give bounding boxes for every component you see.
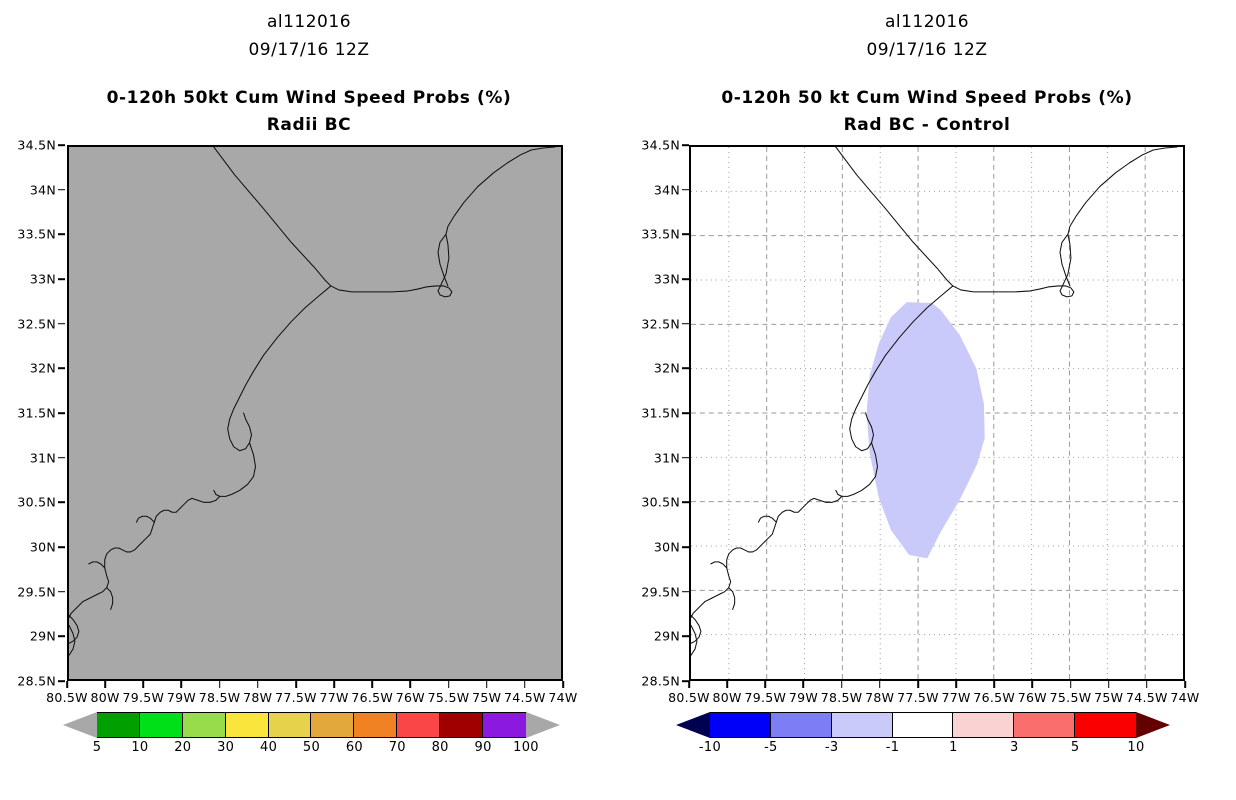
x-axis-tick [66,681,68,688]
colorbar-tick-label: 20 [174,740,191,755]
y-axis-tick [682,144,689,146]
y-axis-tick [58,144,65,146]
x-axis-tick-label: 76.5W [973,690,1015,705]
colorbar-over-arrow-icon [1136,712,1170,738]
y-axis-tick [682,234,689,236]
y-axis-tick [682,412,689,414]
x-axis-tick [1184,681,1186,688]
colorbar-under-arrow-icon [63,712,97,738]
y-axis-tick-label: 31N [30,450,56,465]
y-axis-tick [682,457,689,459]
probability-colorbar: 5102030405060708090100 [63,712,560,758]
colorbar-segments [97,712,526,738]
x-axis-tick-label: 77W [319,690,348,705]
x-axis-tick-label: 80W [713,690,742,705]
y-axis-tick [682,591,689,593]
colorbar-tick-label: -5 [764,740,778,755]
x-axis-tick-label: 80.5W [46,690,88,705]
y-axis-tick [58,636,65,638]
x-axis-tick-label: 78W [243,690,272,705]
x-axis-tick-label: 79W [167,690,196,705]
colorbar-segment [183,713,226,737]
y-axis-tick-label: 33.5N [641,227,680,242]
x-axis-tick-label: 74.5W [1126,690,1168,705]
colorbar-tick-label: -1 [886,740,900,755]
x-axis-tick-label: 78.5W [821,690,863,705]
y-axis-tick-label: 29N [30,629,56,644]
y-axis-tick-label: 30.5N [641,495,680,510]
colorbar-segment [354,713,397,737]
x-axis-tick [257,681,259,688]
y-axis-tick [58,323,65,325]
x-axis-tick [765,681,767,688]
x-axis-tick [1070,681,1072,688]
colorbar-segments [710,712,1136,738]
x-axis-tick [219,681,221,688]
colorbar-tick-label: 50 [303,740,320,755]
storm-id-label: al112016 [0,12,618,32]
colorbar-segment [483,713,526,737]
x-axis-tick-label: 74.5W [504,690,546,705]
x-axis-tick [181,681,183,688]
forecast-date-label: 09/17/16 12Z [0,40,618,60]
panel-radii-bc: al112016 09/17/16 12Z 0-120h 50kt Cum Wi… [0,0,618,800]
x-axis-tick-label: 79.5W [744,690,786,705]
difference-colorbar: -10-5-3-113510 [676,712,1170,758]
panel-title: 0-120h 50kt Cum Wind Speed Probs (%) [0,88,618,108]
map-plot-area-left [67,145,563,681]
x-axis-tick [295,681,297,688]
y-axis-tick-label: 34N [654,182,680,197]
colorbar-tick-label: 30 [217,740,234,755]
x-axis-tick [486,681,488,688]
x-axis-tick [993,681,995,688]
x-axis-tick-label: 78W [865,690,894,705]
y-axis-right: 34.5N34N33.5N33N32.5N32N31.5N31N30.5N30N… [624,145,689,681]
colorbar-under-arrow-icon [676,712,710,738]
x-axis-tick-label: 77W [941,690,970,705]
y-axis-left: 34.5N34N33.5N33N32.5N32N31.5N31N30.5N30N… [0,145,65,681]
x-axis-right: 80.5W80W79.5W79W78.5W78W77.5W77W76.5W76W… [689,681,1185,711]
panel-subtitle: Rad BC - Control [618,115,1236,135]
x-axis-tick [143,681,145,688]
colorbar-segment [710,713,771,737]
map-plot-area-right [689,145,1185,681]
x-axis-tick-label: 74W [548,690,577,705]
y-axis-tick-label: 32.5N [641,316,680,331]
colorbar-segment [1014,713,1075,737]
y-axis-tick [58,234,65,236]
colorbar-segment [1075,713,1136,737]
y-axis-tick [58,546,65,548]
y-axis-tick-label: 33.5N [17,227,56,242]
colorbar-tick-label: 5 [93,740,102,755]
y-axis-tick-label: 29.5N [17,584,56,599]
x-axis-tick [688,681,690,688]
colorbar-segment [226,713,269,737]
x-axis-tick-label: 76W [396,690,425,705]
y-axis-tick [682,546,689,548]
x-axis-tick [1032,681,1034,688]
y-axis-tick [58,680,65,682]
x-axis-tick [410,681,412,688]
colorbar-tick-label: 100 [513,740,539,755]
colorbar-tick-label: 5 [1071,740,1080,755]
y-axis-tick-label: 31.5N [17,406,56,421]
y-axis-tick [58,457,65,459]
colorbar-segment [97,713,140,737]
x-axis-tick [1108,681,1110,688]
y-axis-tick [58,189,65,191]
y-axis-tick [58,412,65,414]
y-axis-tick-label: 32.5N [17,316,56,331]
y-axis-tick-label: 34.5N [641,138,680,153]
colorbar-tick-label: 90 [475,740,492,755]
x-axis-tick [879,681,881,688]
wind-speed-probability-figure: al112016 09/17/16 12Z 0-120h 50kt Cum Wi… [0,0,1236,800]
coastline-map-right [691,147,1183,679]
colorbar-tick-labels: 5102030405060708090100 [63,738,560,758]
colorbar-tick-label: 70 [389,740,406,755]
x-axis-tick [333,681,335,688]
x-axis-tick-label: 77.5W [897,690,939,705]
y-axis-tick-label: 31N [654,450,680,465]
forecast-date-label: 09/17/16 12Z [618,40,1236,60]
y-axis-tick [682,636,689,638]
colorbar-segment [893,713,954,737]
colorbar-tick-label: 60 [346,740,363,755]
y-axis-tick-label: 30.5N [17,495,56,510]
y-axis-tick [58,502,65,504]
y-axis-tick-label: 32N [654,361,680,376]
colorbar-tick-label: 40 [260,740,277,755]
panel-title: 0-120h 50 kt Cum Wind Speed Probs (%) [618,88,1236,108]
y-axis-tick-label: 29.5N [641,584,680,599]
x-axis-tick [803,681,805,688]
x-axis-tick-label: 80.5W [668,690,710,705]
x-axis-tick-label: 75.5W [1050,690,1092,705]
x-axis-tick [726,681,728,688]
y-axis-tick [682,189,689,191]
x-axis-tick [917,681,919,688]
x-axis-tick-label: 75W [472,690,501,705]
y-axis-tick [682,502,689,504]
colorbar-segment [832,713,893,737]
colorbar-segment [140,713,183,737]
colorbar-over-arrow-icon [526,712,560,738]
y-axis-tick [58,591,65,593]
y-axis-tick [682,323,689,325]
y-axis-tick-label: 30N [30,540,56,555]
colorbar-tick-label: -10 [699,740,721,755]
y-axis-tick-label: 31.5N [641,406,680,421]
colorbar-segment [771,713,832,737]
x-axis-tick [371,681,373,688]
y-axis-tick-label: 32N [30,361,56,376]
x-axis-tick-label: 75W [1094,690,1123,705]
y-axis-tick-label: 34.5N [17,138,56,153]
x-axis-tick-label: 78.5W [199,690,241,705]
x-axis-tick-label: 74W [1170,690,1199,705]
y-axis-tick-label: 33N [30,272,56,287]
x-axis-tick [448,681,450,688]
y-axis-tick-label: 28.5N [17,674,56,689]
colorbar-tick-labels: -10-5-3-113510 [676,738,1170,758]
panel-subtitle: Radii BC [0,115,618,135]
colorbar-tick-label: 80 [432,740,449,755]
x-axis-tick [524,681,526,688]
colorbar-segment [311,713,354,737]
coastline-map-left [69,147,561,679]
x-axis-tick [1146,681,1148,688]
y-axis-tick [682,368,689,370]
y-axis-tick [682,278,689,280]
storm-id-label: al112016 [618,12,1236,32]
y-axis-tick-label: 34N [30,182,56,197]
colorbar-segment [269,713,312,737]
y-axis-tick [58,278,65,280]
colorbar-tick-label: 3 [1010,740,1019,755]
x-axis-left: 80.5W80W79.5W79W78.5W78W77.5W77W76.5W76W… [67,681,563,711]
x-axis-tick-label: 80W [91,690,120,705]
x-axis-tick [562,681,564,688]
colorbar-tick-label: 1 [949,740,958,755]
x-axis-tick [955,681,957,688]
colorbar-tick-label: 10 [131,740,148,755]
y-axis-tick-label: 28.5N [641,674,680,689]
x-axis-tick-label: 76.5W [351,690,393,705]
x-axis-tick-label: 75.5W [428,690,470,705]
x-axis-tick [841,681,843,688]
y-axis-tick-label: 29N [654,629,680,644]
y-axis-tick-label: 33N [654,272,680,287]
colorbar-tick-label: 10 [1127,740,1144,755]
panel-rad-bc-control: al112016 09/17/16 12Z 0-120h 50 kt Cum W… [618,0,1236,800]
x-axis-tick-label: 79W [789,690,818,705]
colorbar-segment [440,713,483,737]
colorbar-segment [397,713,440,737]
y-axis-tick-label: 30N [654,540,680,555]
x-axis-tick-label: 79.5W [122,690,164,705]
x-axis-tick-label: 77.5W [275,690,317,705]
x-axis-tick-label: 76W [1018,690,1047,705]
y-axis-tick [58,368,65,370]
colorbar-tick-label: -3 [825,740,839,755]
x-axis-tick [104,681,106,688]
colorbar-segment [953,713,1014,737]
